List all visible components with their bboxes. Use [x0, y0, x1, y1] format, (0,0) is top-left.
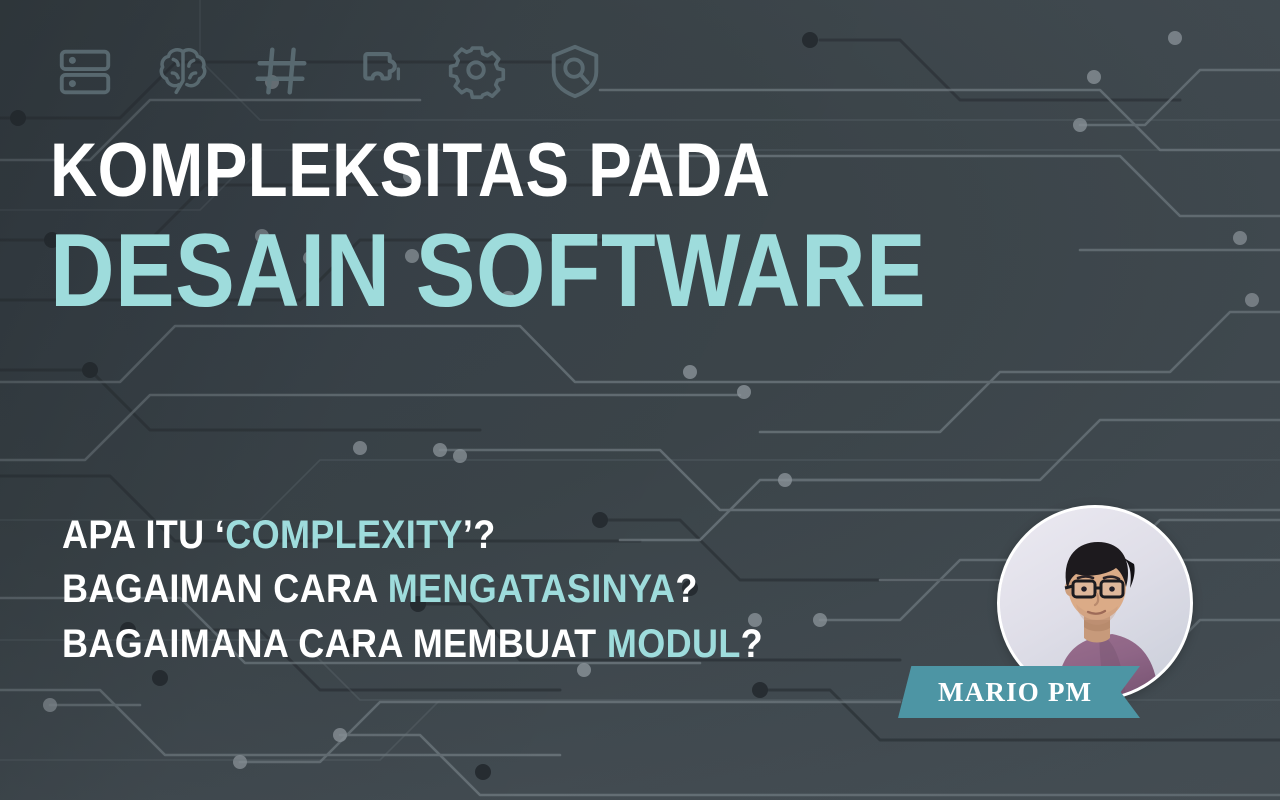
question-1-part-1: COMPLEXITY — [225, 513, 463, 557]
headline-block: KOMPLEKSITAS PADA DESAIN SOFTWARE — [50, 135, 1230, 323]
hash-grid-icon — [250, 40, 312, 102]
page-title-line1: KOMPLEKSITAS PADA — [50, 135, 1065, 207]
page-title-line2: DESAIN SOFTWARE — [50, 219, 1065, 323]
brain-icon — [152, 40, 214, 102]
question-1-part-0: APA ITU ‘ — [62, 513, 225, 557]
slide-canvas: KOMPLEKSITAS PADA DESAIN SOFTWARE APA IT… — [0, 0, 1280, 800]
presenter-name-banner: MARIO PM — [898, 666, 1140, 718]
question-1-part-2: ’? — [463, 513, 496, 557]
question-3: BAGAIMANA CARA MEMBUAT MODUL? — [62, 617, 872, 671]
server-icon — [54, 40, 116, 102]
question-2: BAGAIMAN CARA MENGATASINYA? — [62, 562, 872, 616]
question-3-part-2: ? — [741, 622, 763, 666]
gear-icon — [446, 40, 508, 102]
question-2-part-1: MENGATASINYA — [388, 567, 676, 611]
question-list: APA ITU ‘COMPLEXITY’? BAGAIMAN CARA MENG… — [62, 508, 962, 671]
question-3-part-1: MODUL — [607, 622, 741, 666]
question-3-part-0: BAGAIMANA CARA MEMBUAT — [62, 622, 607, 666]
puzzle-piece-icon — [348, 40, 410, 102]
shield-search-icon — [544, 40, 606, 102]
tech-icon-strip — [54, 40, 606, 102]
question-1: APA ITU ‘COMPLEXITY’? — [62, 508, 872, 562]
question-2-part-2: ? — [675, 567, 697, 611]
presenter-name: MARIO PM — [938, 677, 1092, 708]
question-2-part-0: BAGAIMAN CARA — [62, 567, 388, 611]
